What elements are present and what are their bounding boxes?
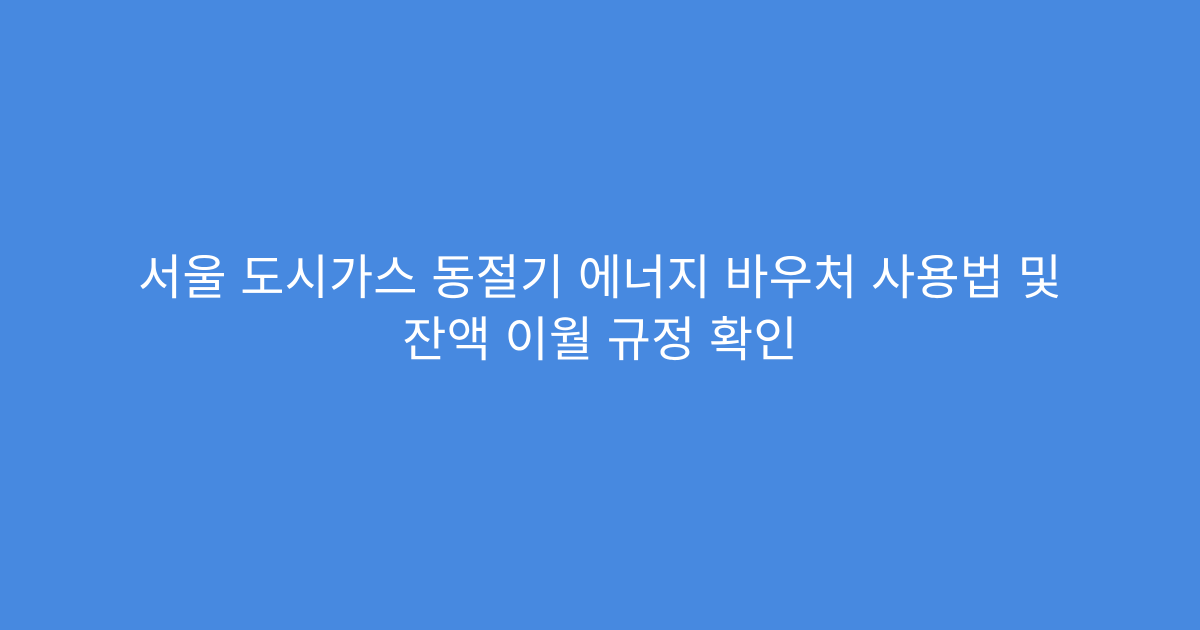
page-title: 서울 도시가스 동절기 에너지 바우처 사용법 및 잔액 이월 규정 확인 bbox=[70, 248, 1130, 372]
share-card: 서울 도시가스 동절기 에너지 바우처 사용법 및 잔액 이월 규정 확인 bbox=[0, 0, 1200, 630]
title-block: 서울 도시가스 동절기 에너지 바우처 사용법 및 잔액 이월 규정 확인 bbox=[70, 248, 1130, 372]
